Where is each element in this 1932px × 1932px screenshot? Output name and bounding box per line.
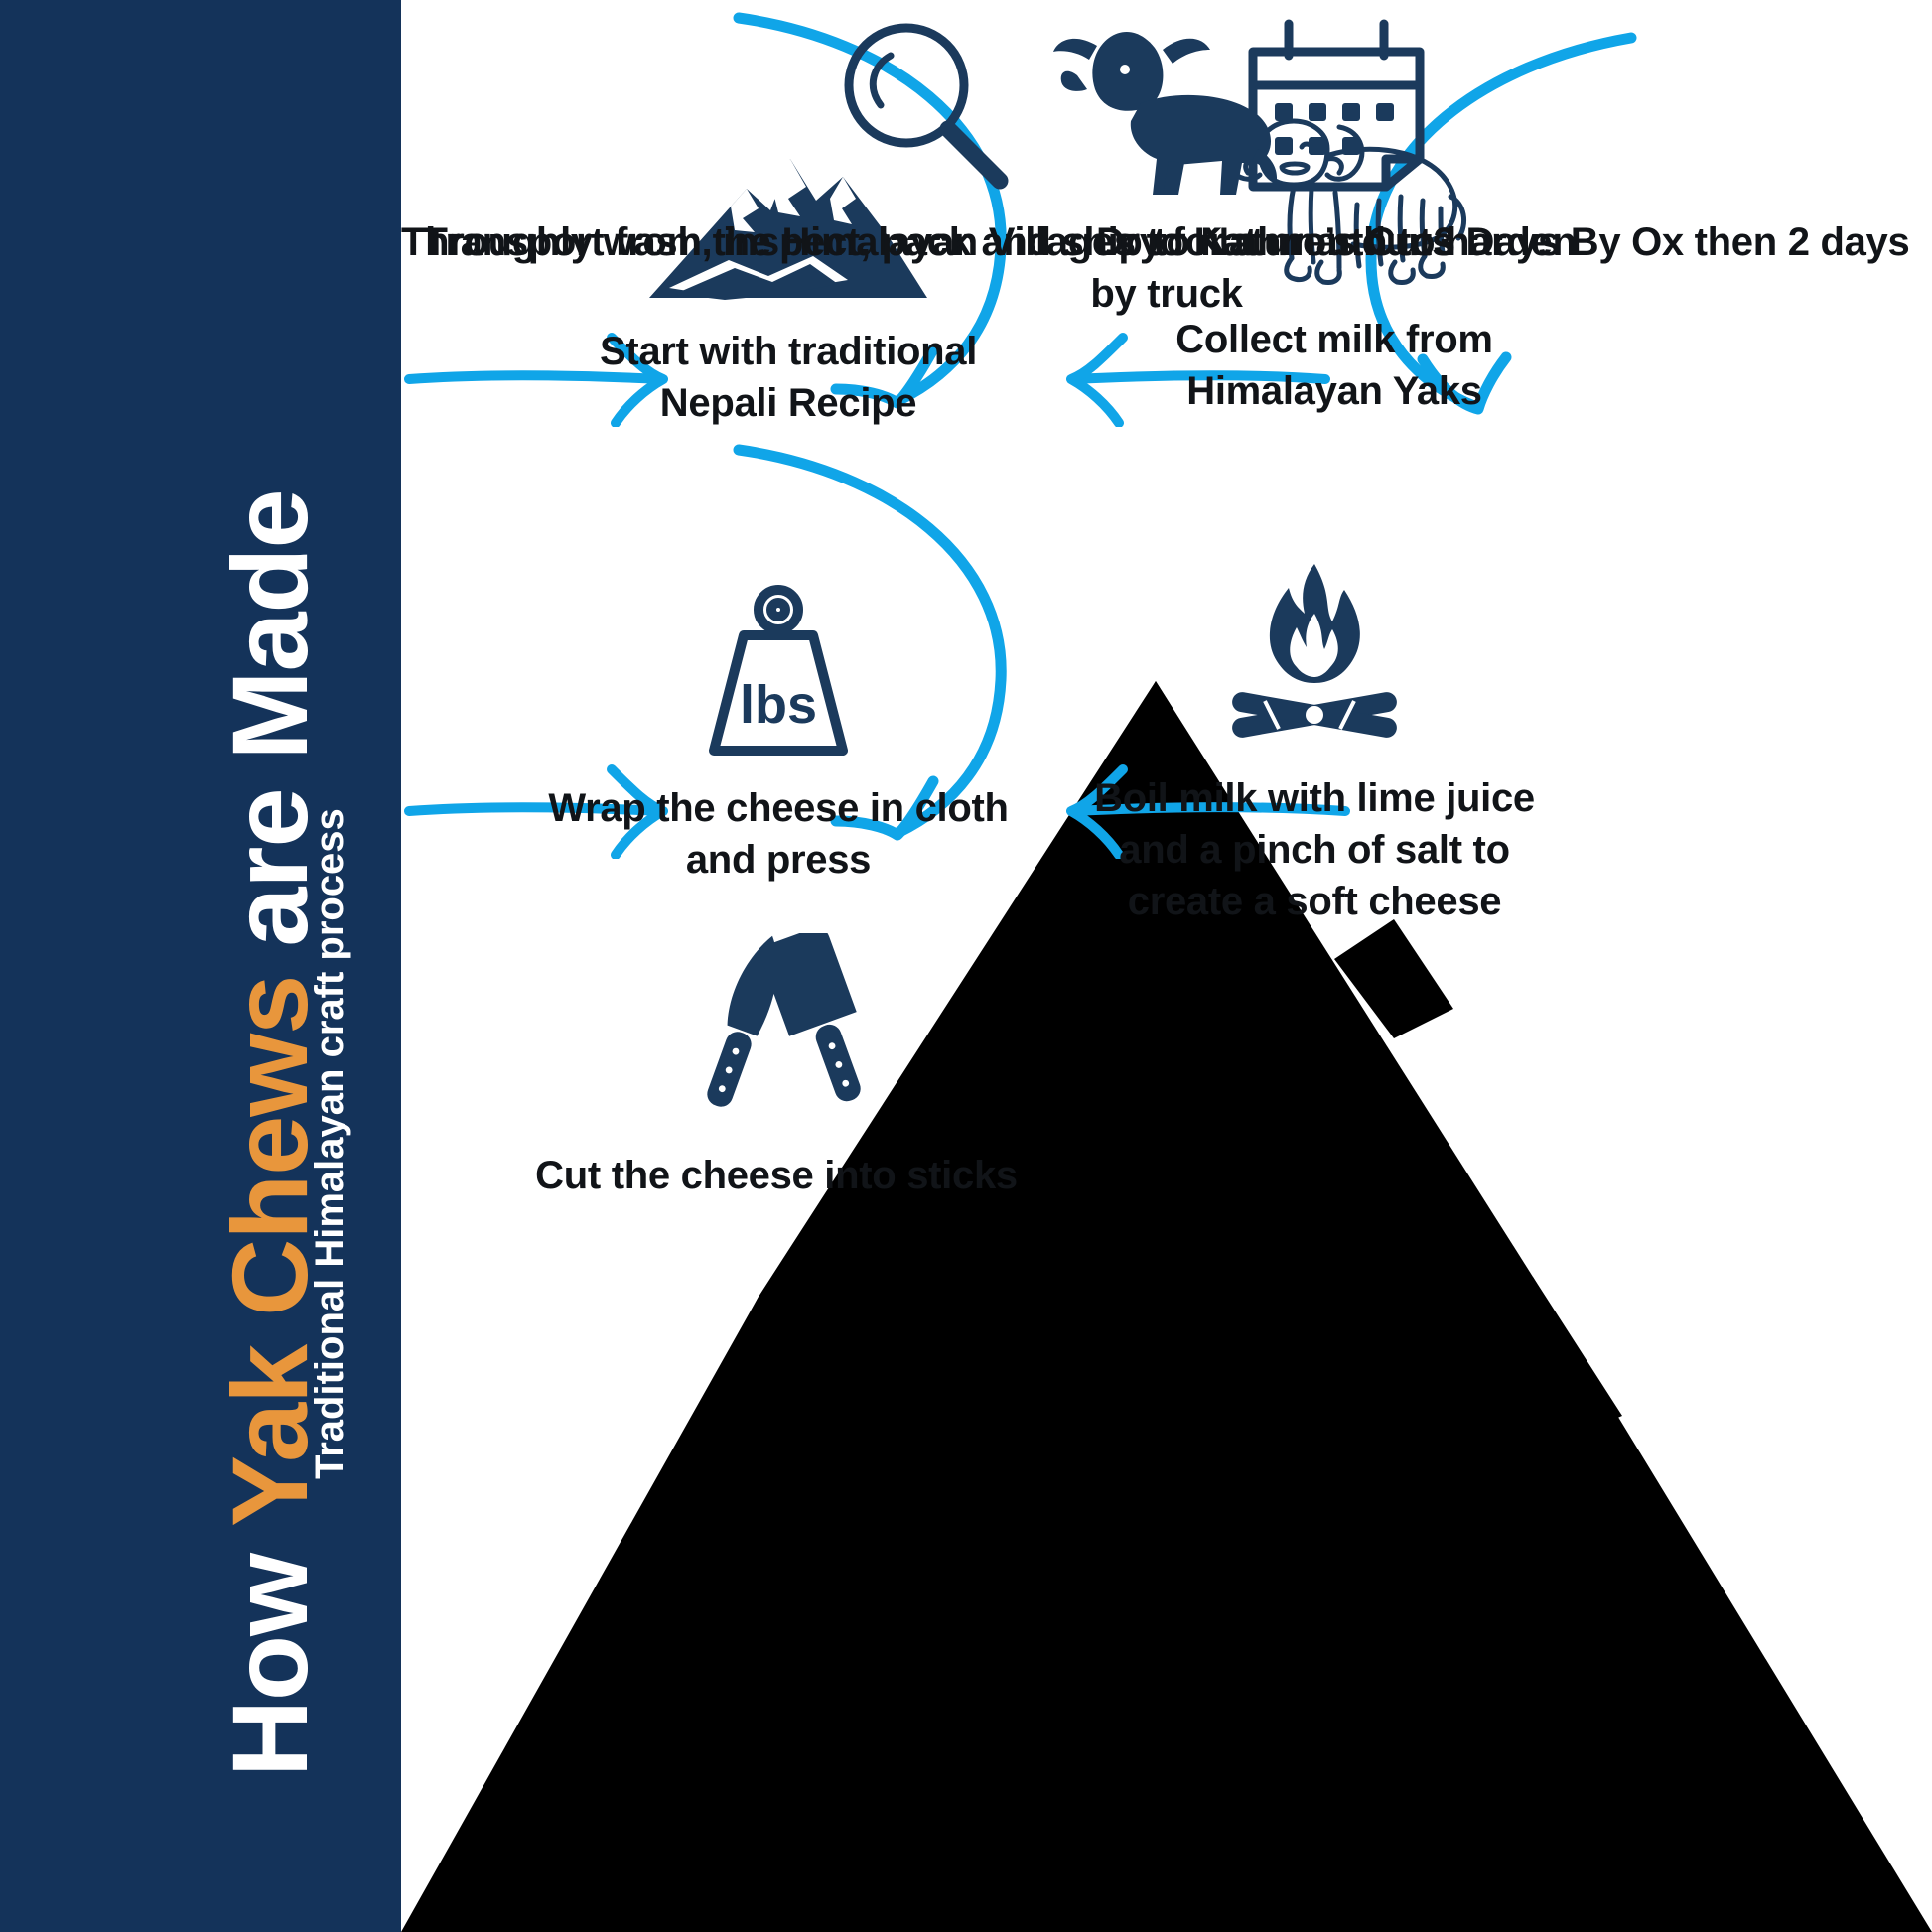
steps-grid: Start with traditional Nepali Recipe xyxy=(401,0,1932,1932)
page-subtitle: Traditional Himalayan craft process xyxy=(308,808,352,1479)
step-3-caption: Boil milk with lime juice and a pinch of… xyxy=(1056,772,1573,927)
infographic-poster: How Yak Chews are Made Traditional Himal… xyxy=(0,0,1932,1932)
step-5-cut-into-sticks: Cut the cheese into sticks xyxy=(528,933,1025,1201)
sidebar: How Yak Chews are Made Traditional Himal… xyxy=(0,0,401,1932)
process-diagram: Start with traditional Nepali Recipe xyxy=(401,0,1932,1932)
page-title-part1: How xyxy=(209,1527,330,1777)
magnifier-icon xyxy=(401,0,1453,199)
step-8-caption: Throughly wash, inspect, pack and ship t… xyxy=(401,216,1453,268)
step-5-caption: Cut the cheese into sticks xyxy=(528,1150,1025,1201)
step-8-wash-inspect-ship: Throughly wash, inspect, pack and ship t… xyxy=(401,0,1453,268)
campfire-icon xyxy=(1056,556,1573,755)
step-2-caption: Collect milk from Himalayan Yaks xyxy=(1106,314,1563,417)
step-4-wrap-and-press: lbs Wrap the cheese in cloth and press xyxy=(540,566,1017,886)
sidebar-vertical-text-wrap: How Yak Chews are Made Traditional Himal… xyxy=(0,0,401,1932)
step-3-boil-milk: Boil milk with lime juice and a pinch of… xyxy=(1056,556,1573,927)
weight-lbs-icon: lbs xyxy=(540,566,1017,764)
step-1-caption: Start with traditional Nepali Recipe xyxy=(550,326,1027,429)
weight-icon-label: lbs xyxy=(740,675,817,735)
step-4-caption: Wrap the cheese in cloth and press xyxy=(540,782,1017,886)
knives-icon xyxy=(528,933,1025,1132)
